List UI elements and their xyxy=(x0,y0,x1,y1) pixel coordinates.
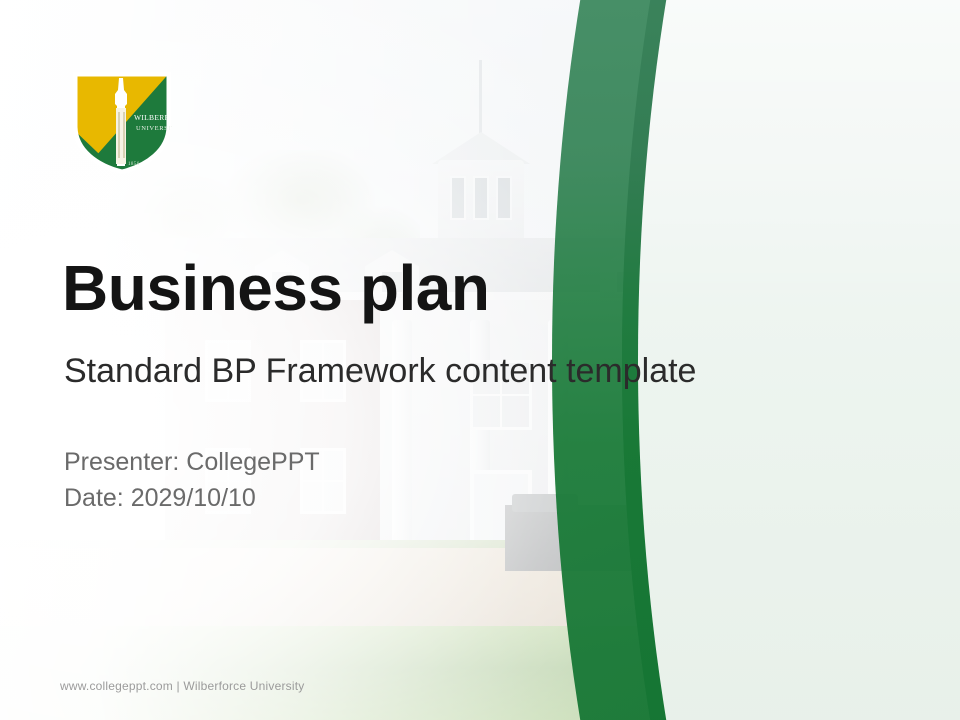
wilberforce-university-logo: WILBERFORCE UNIVERSITY 1856 xyxy=(72,70,172,174)
presentation-slide: WILBERFORCE UNIVERSITY 1856 Business pla… xyxy=(0,0,960,720)
presenter-line: Presenter: CollegePPT xyxy=(64,444,320,480)
slide-title: Business plan xyxy=(62,255,489,322)
slide-meta: Presenter: CollegePPT Date: 2029/10/10 xyxy=(64,444,320,517)
slide-subtitle: Standard BP Framework content template xyxy=(64,352,696,391)
logo-year: 1856 xyxy=(128,162,140,167)
slide-footer: www.collegeppt.com | Wilberforce Univers… xyxy=(60,679,304,693)
logo-wordmark-line2: UNIVERSITY xyxy=(136,125,172,132)
logo-wordmark-line1: WILBERFORCE xyxy=(134,113,172,122)
date-line: Date: 2029/10/10 xyxy=(64,480,320,516)
